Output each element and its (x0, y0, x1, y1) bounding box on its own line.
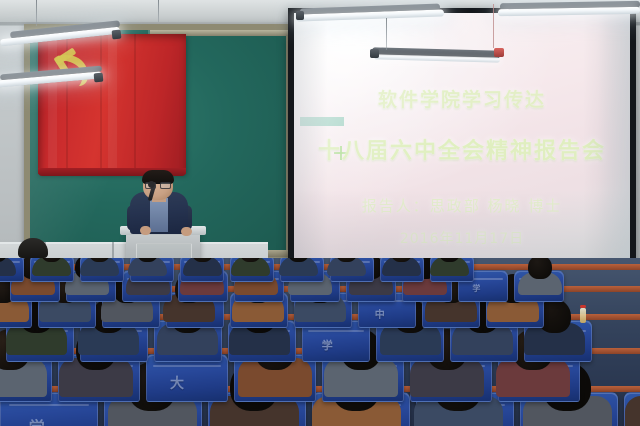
lecture-hall-photo: 软件学院学习传达 十八届六中全会精神报告会 报告人：思政部 杨晓 博士 2016… (0, 0, 640, 426)
speaker-hand-right (181, 227, 192, 236)
microphone-head (148, 181, 155, 188)
slide-cross-marker (334, 146, 348, 160)
speaker-hand-left (140, 226, 151, 235)
water-bottle (580, 308, 586, 323)
light-end-cap (112, 30, 122, 40)
light-stem (36, 0, 37, 26)
seated-person-front-left (18, 238, 48, 258)
bottle-cap (580, 305, 586, 308)
speaker-shirt (150, 198, 168, 232)
light-end-cap (94, 73, 104, 83)
slide-accent-bar (300, 117, 344, 126)
audience-member-head (528, 258, 552, 279)
projection-screen (294, 13, 630, 259)
audience-area: 学大学中学大学中学大学中学大学中学大学中学大大学中学大学中学大学大学中学大学中学… (0, 258, 640, 426)
light-stem (158, 0, 159, 22)
